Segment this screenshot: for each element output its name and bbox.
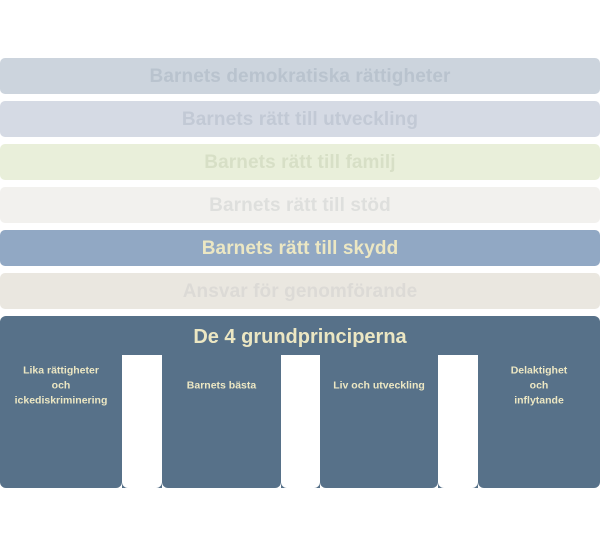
rights-bar-ansvar-genomforande[interactable]: Ansvar för genomförande — [0, 273, 600, 309]
pillar-bottom-left-2 — [162, 482, 168, 488]
pillar-corner-3-left — [320, 482, 326, 488]
pillar-corner-2-left — [162, 482, 168, 488]
rights-bar-label: Ansvar för genomförande — [183, 282, 418, 301]
pillar-label-delaktighet[interactable]: Delaktighet och inflytande — [478, 364, 600, 409]
rights-bar-stod[interactable]: Barnets rätt till stöd — [0, 187, 600, 223]
pillar-label-barnets-basta[interactable]: Barnets bästa — [162, 379, 281, 394]
rights-bar-label: Barnets rätt till utveckling — [182, 110, 418, 129]
pillar-bottom-left-4 — [478, 482, 484, 488]
pillar-bottom-left-1 — [0, 482, 6, 488]
pillar-gap-1 — [122, 355, 162, 488]
rights-bar-label: Barnets rätt till familj — [204, 153, 395, 172]
rights-bar-skydd-selected[interactable]: Barnets rätt till skydd — [0, 230, 600, 266]
pillar-bottom-left-3 — [320, 482, 326, 488]
principles-base: De 4 grundprinciperna Lika rättigheter o… — [0, 316, 600, 488]
rights-bar-label: Barnets rätt till stöd — [209, 196, 391, 215]
pillar-bottom-right-4 — [594, 482, 600, 488]
rights-bar-label: Barnets rätt till skydd — [202, 239, 399, 258]
pillar-corner-4-right — [594, 482, 600, 488]
rights-bar-utveckling[interactable]: Barnets rätt till utveckling — [0, 101, 600, 137]
childrens-rights-diagram: Barnets demokratiska rättigheter Barnets… — [0, 0, 600, 540]
pillar-corner-4-left — [478, 482, 484, 488]
rights-bar-label: Barnets demokratiska rättigheter — [150, 67, 451, 86]
rights-bar-familj[interactable]: Barnets rätt till familj — [0, 144, 600, 180]
pillar-label-liv-och-utveckling[interactable]: Liv och utveckling — [320, 379, 438, 394]
pillar-gap-3 — [438, 355, 478, 488]
principles-title: De 4 grundprinciperna — [0, 327, 600, 347]
pillar-label-lika-rattigheter[interactable]: Lika rättigheter och ickediskriminering — [0, 364, 122, 409]
rights-bar-demokratiska-rattigheter[interactable]: Barnets demokratiska rättigheter — [0, 58, 600, 94]
pillar-gap-2 — [281, 355, 320, 488]
pillar-corner-1-left — [0, 482, 6, 488]
rights-bar-stack: Barnets demokratiska rättigheter Barnets… — [0, 58, 600, 316]
